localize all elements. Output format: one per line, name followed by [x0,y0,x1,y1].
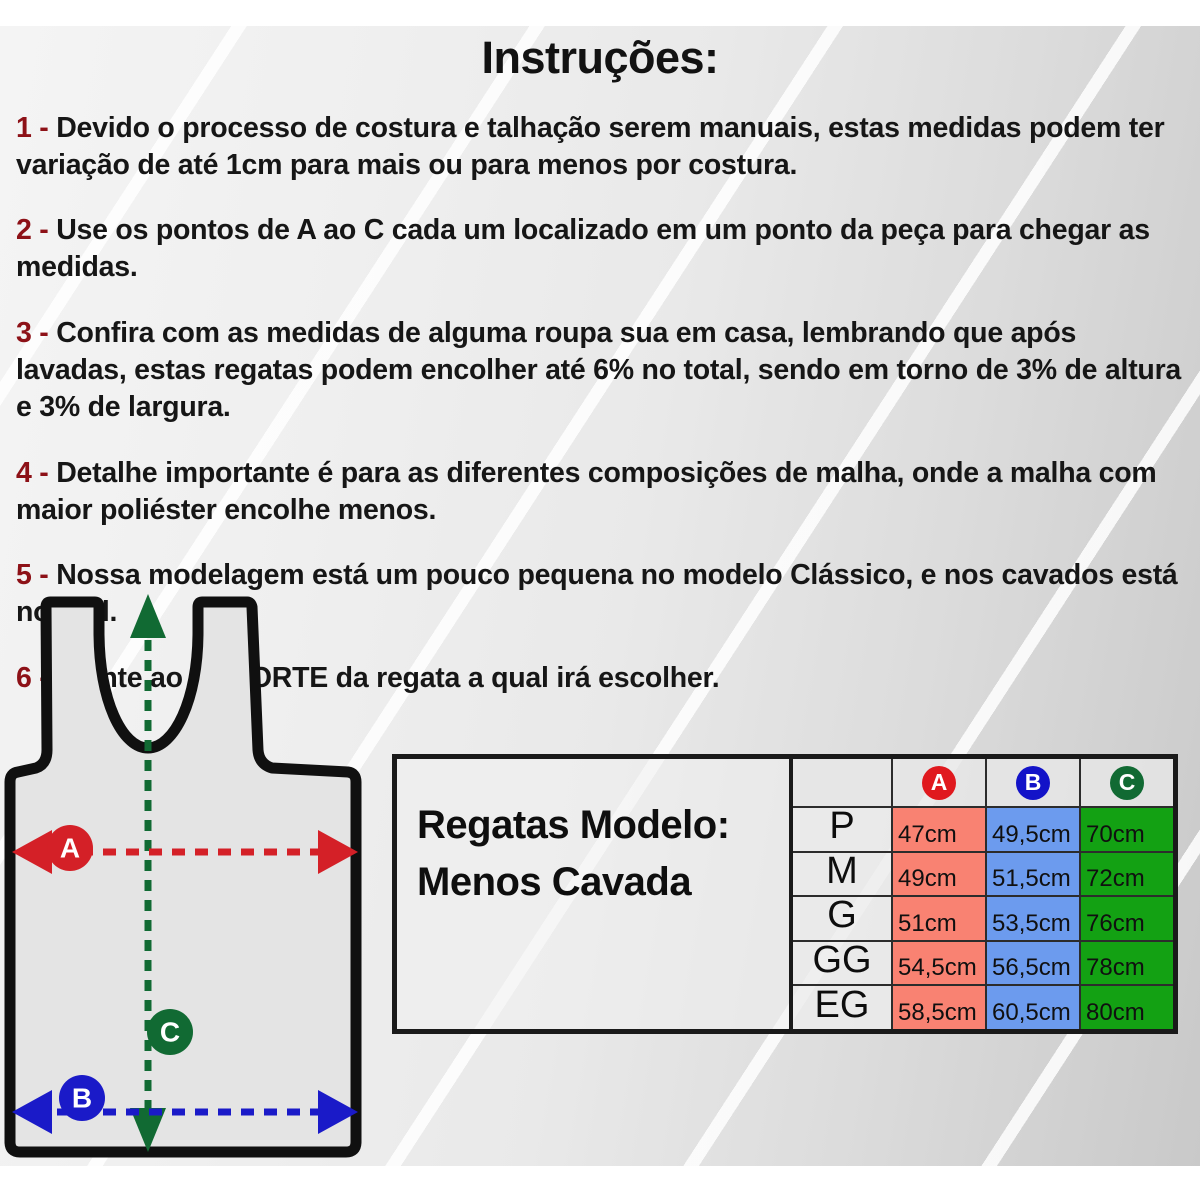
header-badge-c-label: C [1119,771,1136,794]
instruction-number-2: 2 [16,214,32,246]
cell-size: P [793,808,893,851]
header-badge-c-icon: C [1110,766,1144,800]
value-a: 49cm [893,867,957,895]
cell-b: 53,5cm [987,897,1081,940]
cell-b: 56,5cm [987,942,1081,985]
cell-a: 51cm [893,897,987,940]
instruction-item-4: 4 - Detalhe importante é para as diferen… [16,455,1186,529]
table-row: M 49cm 51,5cm 72cm [793,853,1173,898]
size-label: M [826,852,858,890]
cell-b: 51,5cm [987,853,1081,896]
header-cell-a: A [893,759,987,806]
marker-b-badge: B [59,1075,105,1121]
size-table-caption-line1: Regatas Modelo: [417,797,789,854]
value-b: 53,5cm [987,912,1071,940]
value-c: 80cm [1081,1001,1145,1029]
size-chart-image: Instruções: 1 - Devido o processo de cos… [0,0,1200,1200]
size-label: G [827,896,857,934]
value-a: 51cm [893,912,957,940]
size-table-header-row: A B C [793,759,1173,808]
value-c: 70cm [1081,823,1145,851]
cell-a: 47cm [893,808,987,851]
size-table-caption-line2: Menos Cavada [417,854,789,911]
instruction-text-1: Devido o processo de costura e talhação … [16,112,1164,181]
header-badge-b-icon: B [1016,766,1050,800]
header-badge-a-icon: A [922,766,956,800]
instruction-dash-1: - [39,112,48,144]
table-row: EG 58,5cm 60,5cm 80cm [793,986,1173,1029]
value-c: 76cm [1081,912,1145,940]
size-label: P [829,807,854,845]
cell-size: M [793,853,893,896]
header-badge-b-label: B [1025,771,1042,794]
garment-diagram: A B C [0,580,400,1170]
header-cell-b: B [987,759,1081,806]
cell-size: GG [793,942,893,985]
cell-size: G [793,897,893,940]
instruction-item-2: 2 - Use os pontos de A ao C cada um loca… [16,212,1186,286]
header-badge-a-label: A [931,771,948,794]
instruction-item-3: 3 - Confira com as medidas de alguma rou… [16,315,1186,426]
instruction-number-4: 4 [16,457,32,489]
marker-c-badge: C [147,1009,193,1055]
value-b: 51,5cm [987,867,1071,895]
cell-b: 49,5cm [987,808,1081,851]
value-b: 60,5cm [987,1001,1071,1029]
cell-a: 49cm [893,853,987,896]
instruction-dash-4: - [39,457,48,489]
value-b: 49,5cm [987,823,1071,851]
cell-c: 78cm [1081,942,1173,985]
instruction-number-1: 1 [16,112,32,144]
value-a: 58,5cm [893,1001,977,1029]
page-title: Instruções: [0,34,1200,81]
instruction-text-2: Use os pontos de A ao C cada um localiza… [16,214,1150,283]
size-label: EG [815,986,870,1024]
instruction-number-3: 3 [16,317,32,349]
cell-size: EG [793,986,893,1029]
size-label: GG [812,941,871,979]
marker-c-label: C [160,1017,180,1048]
cell-a: 58,5cm [893,986,987,1029]
cell-a: 54,5cm [893,942,987,985]
table-row: G 51cm 53,5cm 76cm [793,897,1173,942]
instruction-dash-2: - [39,214,48,246]
header-cell-size [793,759,893,806]
cell-c: 76cm [1081,897,1173,940]
size-table-grid: A B C P 47cm 49,5cm 70cm M 49cm 51, [793,759,1173,1029]
table-row: P 47cm 49,5cm 70cm [793,808,1173,853]
marker-b-label: B [72,1083,92,1114]
cell-b: 60,5cm [987,986,1081,1029]
value-a: 54,5cm [893,956,977,984]
instruction-text-4: Detalhe importante é para as diferentes … [16,457,1156,526]
size-table: Regatas Modelo: Menos Cavada A B C P [392,754,1178,1034]
cell-c: 70cm [1081,808,1173,851]
cell-c: 80cm [1081,986,1173,1029]
value-c: 72cm [1081,867,1145,895]
value-b: 56,5cm [987,956,1071,984]
marker-a-label: A [60,833,80,864]
instruction-text-3: Confira com as medidas de alguma roupa s… [16,317,1181,423]
tank-top-shape [10,602,356,1152]
value-c: 78cm [1081,956,1145,984]
table-row: GG 54,5cm 56,5cm 78cm [793,942,1173,987]
instruction-item-1: 1 - Devido o processo de costura e talha… [16,110,1186,184]
marker-a-badge: A [47,825,93,871]
cell-c: 72cm [1081,853,1173,896]
header-cell-c: C [1081,759,1173,806]
value-a: 47cm [893,823,957,851]
size-table-caption: Regatas Modelo: Menos Cavada [397,759,793,1029]
instruction-dash-3: - [39,317,48,349]
